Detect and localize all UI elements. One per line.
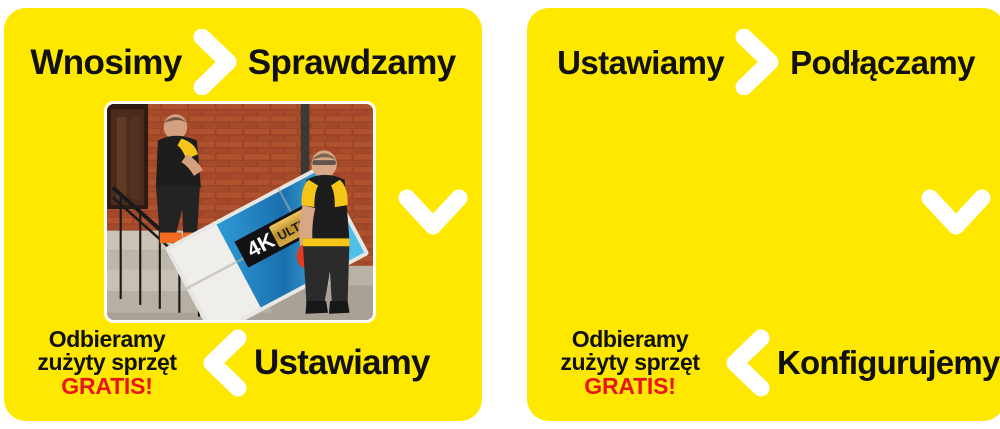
bottom-step-label: Ustawiamy <box>254 343 430 383</box>
headline-row-right: Ustawiamy Podłączamy <box>527 32 1000 92</box>
headline-row-left: Wnosimy Sprawdzamy <box>4 32 482 92</box>
service-step-panel-left: Wnosimy Sprawdzamy <box>4 8 482 421</box>
bottom-step-label: Konfigurujemy <box>777 344 999 382</box>
photo-delivery-carry-illustration: 4K ULTRA HD <box>107 104 373 320</box>
chevron-right-icon <box>734 29 780 95</box>
recycle-gratis-badge: GRATIS! <box>18 375 196 398</box>
chevron-down-wrap-right <box>921 186 991 242</box>
headline-step-3: Ustawiamy <box>557 46 724 79</box>
recycle-gratis-badge: GRATIS! <box>541 375 719 398</box>
chevron-right-icon <box>192 29 238 95</box>
recycle-note-right: Odbieramy zużyty sprzęt GRATIS! <box>541 328 719 398</box>
bottom-row-left: Odbieramy zużyty sprzęt GRATIS! Ustawiam… <box>4 317 482 409</box>
chevron-down-icon <box>398 186 468 242</box>
recycle-note-left: Odbieramy zużyty sprzęt GRATIS! <box>18 328 196 398</box>
recycle-line-2: zużyty sprzęt <box>541 351 719 374</box>
recycle-line-1: Odbieramy <box>541 328 719 351</box>
chevron-left-icon <box>202 328 248 398</box>
recycle-line-1: Odbieramy <box>18 328 196 351</box>
infographic-stage: Wnosimy Sprawdzamy <box>0 0 1000 429</box>
photo-delivery-carry: 4K ULTRA HD <box>104 101 376 323</box>
chevron-left-icon <box>725 328 771 398</box>
chevron-down-icon <box>921 186 991 242</box>
recycle-line-2: zużyty sprzęt <box>18 351 196 374</box>
chevron-down-wrap-left <box>398 186 468 242</box>
headline-step-4: Podłączamy <box>790 46 975 79</box>
service-step-panel-right: Ustawiamy Podłączamy <box>527 8 1000 421</box>
headline-step-1: Wnosimy <box>30 45 181 80</box>
bottom-row-right: Odbieramy zużyty sprzęt GRATIS! Konfigur… <box>527 317 1000 409</box>
headline-step-2: Sprawdzamy <box>248 45 456 80</box>
